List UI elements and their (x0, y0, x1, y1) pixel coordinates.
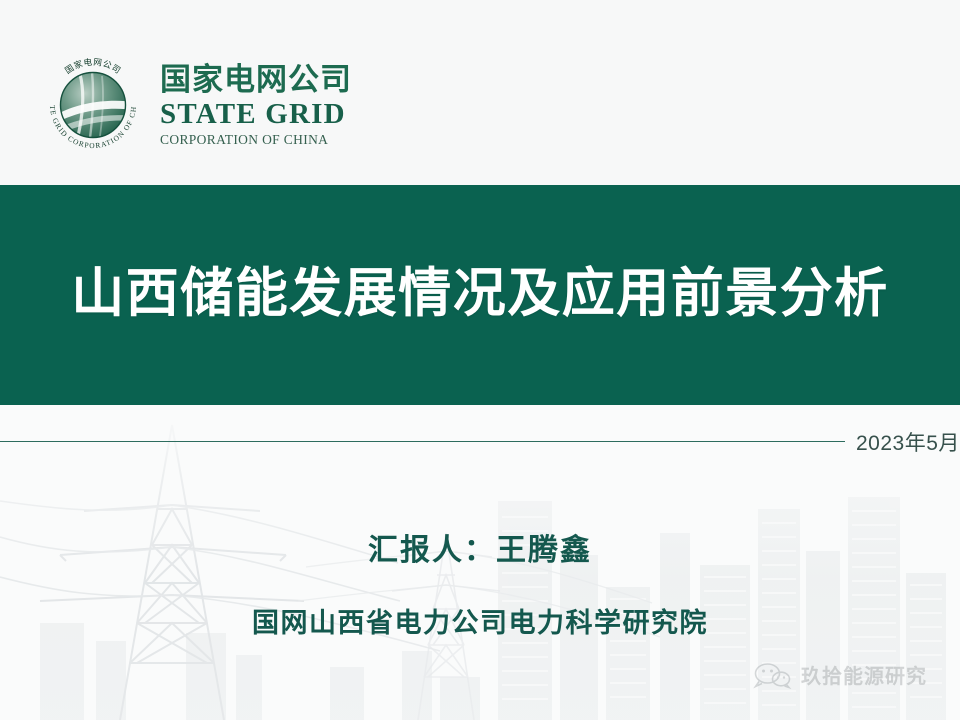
presenter-organization: 国网山西省电力公司电力科学研究院 (0, 601, 960, 640)
company-name-en: STATE GRID (160, 98, 352, 130)
wechat-speech-bubble-icon (752, 661, 792, 689)
state-grid-logo: 国家电网公司 STATE GRID CORPORATION OF CHINA 国… (40, 52, 352, 158)
company-name-en-subtitle: CORPORATION OF CHINA (160, 132, 352, 148)
state-grid-globe-emblem: 国家电网公司 STATE GRID CORPORATION OF CHINA (40, 52, 146, 158)
channel-watermark: 玖拾能源研究 (752, 660, 927, 689)
date-divider-row: 2023年5月 (0, 441, 960, 442)
presentation-date: 2023年5月 (856, 427, 960, 457)
company-name-cn: 国家电网公司 (160, 63, 352, 96)
slide-title: 山西储能发展情况及应用前景分析 (71, 267, 889, 324)
presenter-name: 汇报人：王腾鑫 (0, 525, 960, 569)
title-banner: 山西储能发展情况及应用前景分析 (0, 185, 960, 405)
slide-header: 国家电网公司 STATE GRID CORPORATION OF CHINA 国… (0, 0, 960, 185)
horizontal-rule (0, 441, 845, 442)
presentation-title-slide: 国家电网公司 STATE GRID CORPORATION OF CHINA 国… (0, 0, 960, 720)
state-grid-wordmark: 国家电网公司 STATE GRID CORPORATION OF CHINA (160, 61, 352, 148)
watermark-label: 玖拾能源研究 (801, 660, 927, 689)
